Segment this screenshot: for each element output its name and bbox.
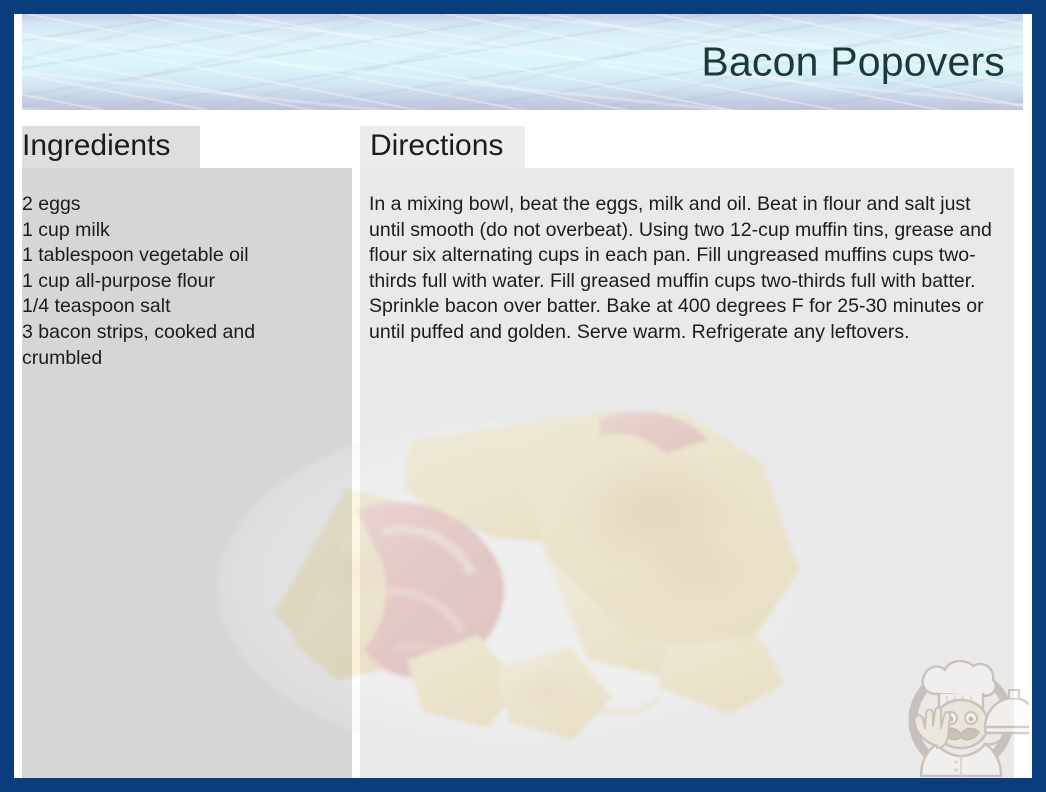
ingredients-heading: Ingredients (22, 131, 170, 161)
recipe-card: Bacon Popovers Ingredients 2 eggs1 cup m… (0, 0, 1046, 792)
ingredient-item: 1 tablespoon vegetable oil (22, 243, 322, 269)
directions-text: In a mixing bowl, beat the eggs, milk an… (369, 192, 1003, 346)
ingredient-item: 1 cup milk (22, 218, 322, 244)
header-banner: Bacon Popovers (22, 14, 1023, 110)
border-left (0, 0, 14, 792)
border-top (0, 0, 1046, 14)
page-title: Bacon Popovers (701, 42, 1005, 83)
ingredient-item: 1 cup all-purpose flour (22, 269, 322, 295)
ingredient-item: 1/4 teaspoon salt (22, 294, 322, 320)
ingredient-item: 3 bacon strips, cooked and crumbled (22, 320, 322, 371)
directions-heading: Directions (370, 131, 503, 161)
ingredient-item: 2 eggs (22, 192, 322, 218)
ingredients-list: 2 eggs1 cup milk1 tablespoon vegetable o… (22, 192, 322, 371)
border-right (1032, 0, 1046, 792)
border-bottom (0, 778, 1046, 792)
